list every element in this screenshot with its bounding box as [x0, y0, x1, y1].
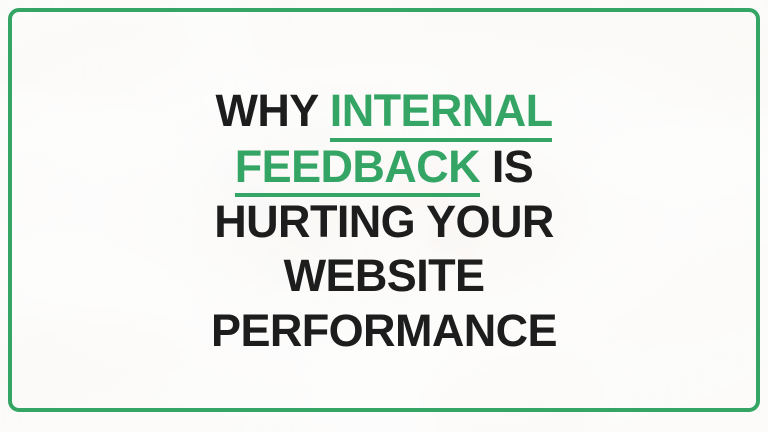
headline-text: PERFORMANCE	[211, 305, 557, 356]
headline-text: IS	[480, 141, 533, 192]
headline-line-5: PERFORMANCE	[0, 304, 768, 358]
banner-canvas: WHY INTERNALFEEDBACK ISHURTING YOURWEBSI…	[0, 0, 768, 432]
headline-line-1: WHY INTERNAL	[0, 84, 768, 139]
headline-text: WHY	[216, 85, 330, 136]
headline-text: HURTING YOUR	[214, 196, 554, 247]
headline-line-4: WEBSITE	[0, 249, 768, 303]
headline-highlight-word: FEEDBACK	[235, 140, 480, 195]
page-title: WHY INTERNALFEEDBACK ISHURTING YOURWEBSI…	[0, 84, 768, 358]
headline-line-2: FEEDBACK IS	[0, 140, 768, 195]
headline-line-3: HURTING YOUR	[0, 195, 768, 249]
headline-text: WEBSITE	[284, 250, 485, 301]
headline-highlight-word: INTERNAL	[330, 84, 553, 139]
